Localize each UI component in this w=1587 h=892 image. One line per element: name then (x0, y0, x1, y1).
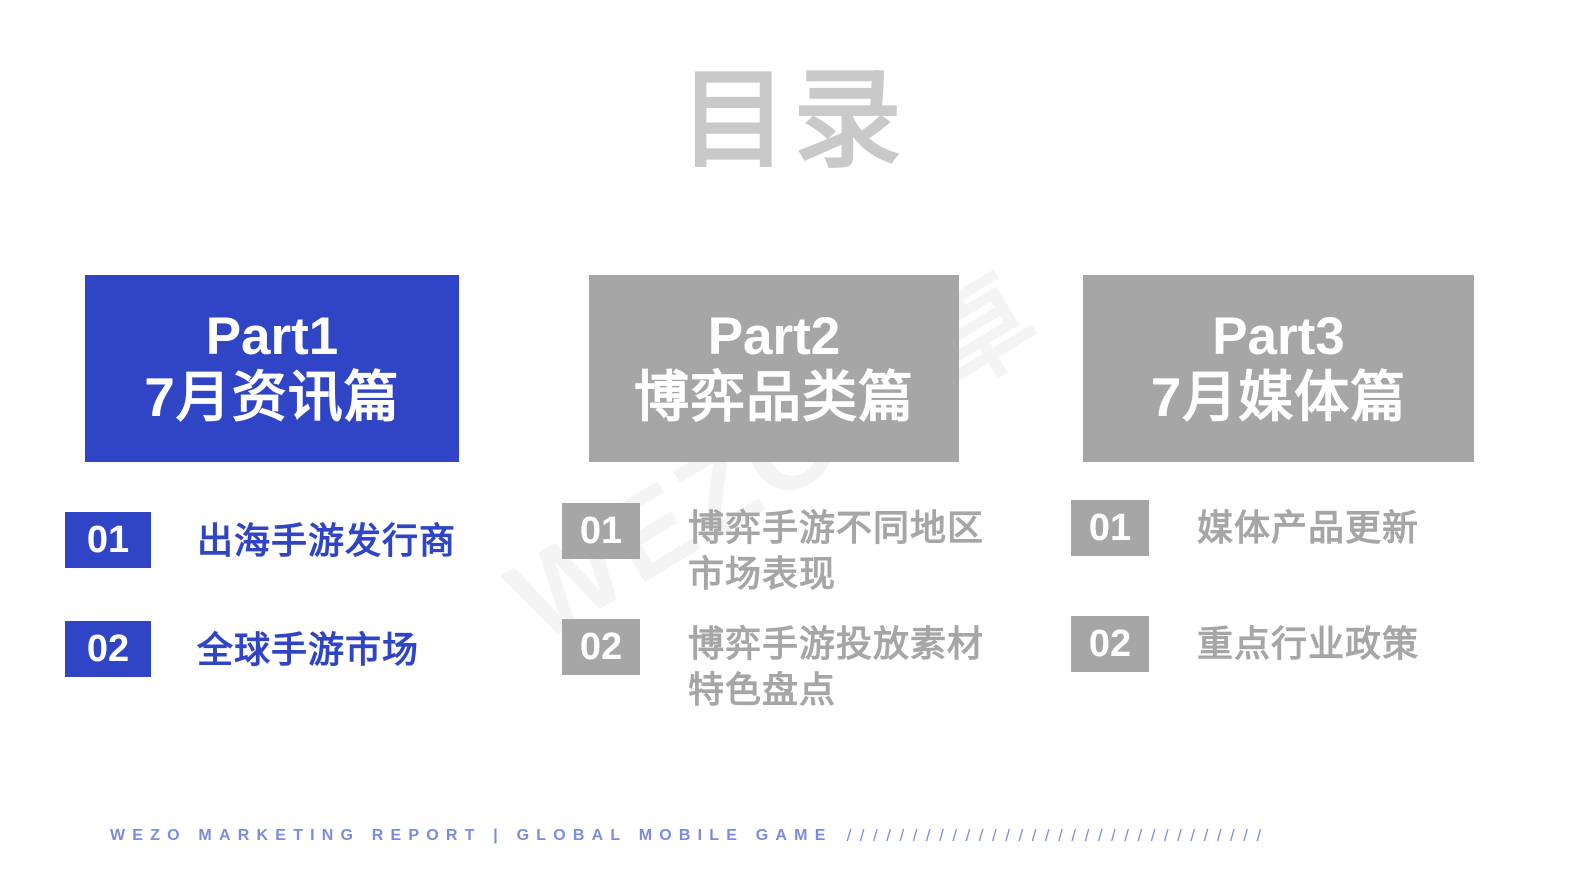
part-block-2[interactable]: Part2 博弈品类篇 (589, 275, 959, 462)
footer-report-label: WEZO MARKETING REPORT | GLOBAL MOBILE GA… (110, 827, 833, 845)
topic-label: 全球手游市场 (197, 627, 419, 673)
list-item[interactable]: 02 博弈手游投放素材 特色盘点 (562, 619, 1022, 713)
list-item[interactable]: 02 全球手游市场 (65, 621, 505, 677)
topic-column-1: 01 出海手游发行商 02 全球手游市场 (65, 512, 505, 730)
topic-number-badge: 02 (1071, 616, 1149, 672)
topic-label: 重点行业政策 (1197, 621, 1419, 667)
part-block-1[interactable]: Part1 7月资讯篇 (85, 275, 459, 462)
part-2-cn-label: 博弈品类篇 (634, 367, 914, 429)
part-2-en-label: Part2 (708, 309, 841, 365)
part-1-en-label: Part1 (206, 309, 339, 365)
slide-canvas: WEZO 微卓 目录 Part1 7月资讯篇 Part2 博弈品类篇 Part3… (0, 0, 1587, 892)
list-item[interactable]: 01 出海手游发行商 (65, 512, 505, 568)
topic-number-badge: 01 (65, 512, 151, 568)
topic-column-2: 01 博弈手游不同地区 市场表现 02 博弈手游投放素材 特色盘点 (562, 503, 1022, 735)
part-block-3[interactable]: Part3 7月媒体篇 (1083, 275, 1474, 462)
topic-label: 媒体产品更新 (1197, 505, 1419, 551)
topic-label: 博弈手游不同地区 市场表现 (688, 505, 984, 597)
topic-label: 出海手游发行商 (197, 518, 456, 564)
footer-slash-decoration: //////////////////////////////// (847, 826, 1270, 846)
page-title: 目录 (0, 62, 1587, 179)
topic-label: 博弈手游投放素材 特色盘点 (688, 621, 984, 713)
topic-number-badge: 02 (65, 621, 151, 677)
list-item[interactable]: 01 博弈手游不同地区 市场表现 (562, 503, 1022, 597)
topic-number-badge: 01 (562, 503, 640, 559)
part-3-en-label: Part3 (1212, 309, 1345, 365)
part-1-cn-label: 7月资讯篇 (144, 367, 400, 429)
list-item[interactable]: 01 媒体产品更新 (1071, 500, 1521, 556)
part-3-cn-label: 7月媒体篇 (1151, 367, 1407, 429)
list-item[interactable]: 02 重点行业政策 (1071, 616, 1521, 672)
topic-number-badge: 01 (1071, 500, 1149, 556)
topic-column-3: 01 媒体产品更新 02 重点行业政策 (1071, 500, 1521, 732)
topic-number-badge: 02 (562, 619, 640, 675)
footer: WEZO MARKETING REPORT | GLOBAL MOBILE GA… (110, 826, 1270, 846)
